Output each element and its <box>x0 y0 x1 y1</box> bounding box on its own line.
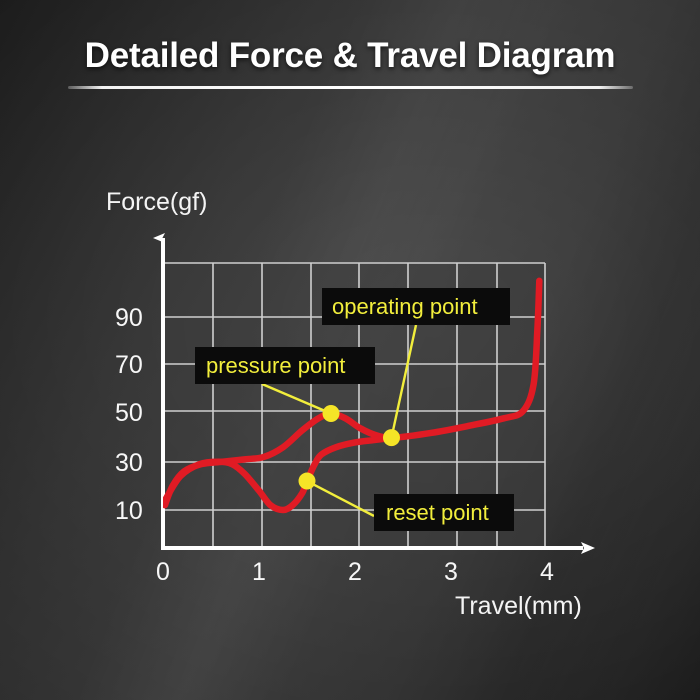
force-travel-chart: Force(gf) Travel(mm) 90 70 50 30 10 0 1 … <box>0 0 700 700</box>
x-tick-label-3: 3 <box>444 558 458 586</box>
x-axis-title: Travel(mm) <box>455 592 582 620</box>
y-axis-title: Force(gf) <box>106 188 207 216</box>
reset-point-marker[interactable] <box>299 473 316 490</box>
y-tick-label-50: 50 <box>115 399 143 427</box>
y-tick-label-90: 90 <box>115 304 143 332</box>
x-tick-label-0: 0 <box>156 558 170 586</box>
y-tick-label-30: 30 <box>115 449 143 477</box>
diagram-canvas: Detailed Force & Travel Diagram <box>0 0 700 700</box>
pressure-point-marker[interactable] <box>323 405 340 422</box>
x-tick-label-1: 1 <box>252 558 266 586</box>
y-tick-label-70: 70 <box>115 351 143 379</box>
callout-reset-point[interactable]: reset point <box>374 494 514 531</box>
x-tick-label-2: 2 <box>348 558 362 586</box>
operating-point-marker[interactable] <box>383 429 400 446</box>
x-tick-label-4: 4 <box>540 558 554 586</box>
pressure-point-label: pressure point <box>206 353 345 378</box>
y-tick-label-10: 10 <box>115 497 143 525</box>
callout-pressure-point[interactable]: pressure point <box>195 347 375 384</box>
reset-point-label: reset point <box>386 500 489 525</box>
operating-point-label: operating point <box>332 294 478 319</box>
callout-operating-point[interactable]: operating point <box>322 288 510 325</box>
